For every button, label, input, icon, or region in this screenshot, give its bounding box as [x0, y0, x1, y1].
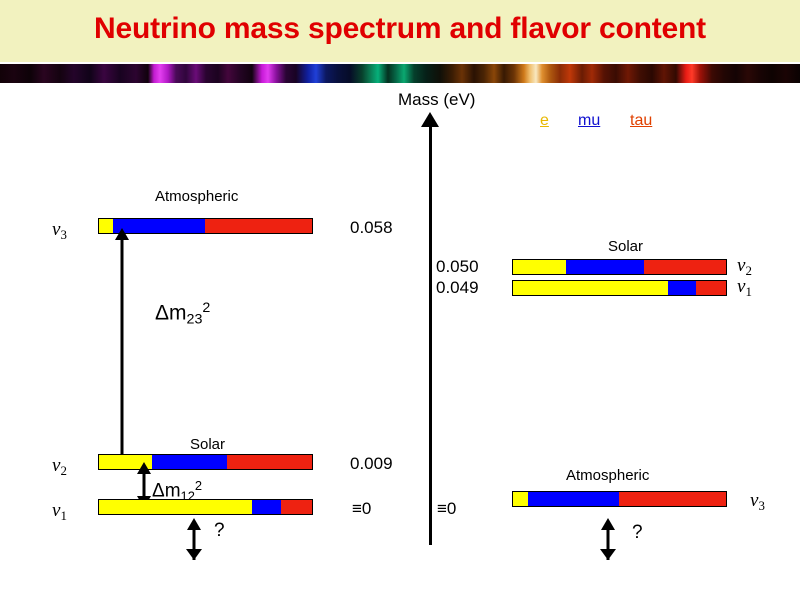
- bar-segment-e: [99, 219, 113, 233]
- right-mass-value-nu3: ≡0: [437, 499, 456, 519]
- right-unknown-marker: ?: [632, 522, 643, 544]
- arrow-shaft: [121, 238, 124, 456]
- right-flavor-bar-nu1[interactable]: [512, 280, 727, 296]
- left-mass-value-nu2: 0.009: [350, 454, 393, 474]
- legend-item-mu[interactable]: mu: [578, 112, 600, 130]
- bar-segment-mu: [566, 260, 644, 274]
- right-atmospheric-group-label: Atmospheric: [566, 467, 649, 484]
- left-flavor-bar-nu1[interactable]: [98, 499, 313, 515]
- nu-subscript: 3: [60, 227, 66, 242]
- delta-m23-arrow: [113, 228, 131, 466]
- right-mass-value-nu1: 0.049: [436, 278, 479, 298]
- left-mass-value-nu1: ≡0: [352, 499, 371, 519]
- page-title: Neutrino mass spectrum and flavor conten…: [0, 12, 800, 46]
- slide-canvas: Neutrino mass spectrum and flavor conten…: [0, 0, 800, 600]
- left-unknown-marker: ?: [214, 520, 225, 542]
- mass-axis-line: [429, 121, 432, 545]
- bar-segment-mu: [668, 281, 696, 295]
- title-banner: Neutrino mass spectrum and flavor conten…: [0, 0, 800, 62]
- delta-m-sub: 23: [187, 312, 203, 328]
- bar-segment-mu: [528, 492, 620, 506]
- delta-m23-label: Δm232: [155, 300, 210, 328]
- bar-segment-tau: [227, 455, 312, 469]
- bar-segment-tau: [696, 281, 726, 295]
- right-state-label-nu1: ν1: [737, 276, 752, 300]
- left-flavor-bar-nu2[interactable]: [98, 454, 313, 470]
- nu-subscript: 1: [60, 508, 66, 523]
- left-unknown-arrow-head-down: [186, 549, 202, 560]
- left-state-label-nu3: ν3: [52, 219, 67, 243]
- bar-segment-e: [99, 500, 252, 514]
- nu-subscript: 2: [60, 463, 66, 478]
- bar-segment-tau: [281, 500, 312, 514]
- legend-item-tau[interactable]: tau: [630, 112, 652, 130]
- left-state-label-nu1: ν1: [52, 500, 67, 524]
- left-mass-value-nu3: 0.058: [350, 218, 393, 238]
- bar-segment-e: [513, 492, 528, 506]
- right-unknown-arrow-head-down: [600, 549, 616, 560]
- nu-subscript: 1: [745, 284, 751, 299]
- bar-segment-tau: [205, 219, 312, 233]
- bar-segment-tau: [619, 492, 726, 506]
- right-solar-group-label: Solar: [608, 238, 643, 255]
- left-state-label-nu2: ν2: [52, 455, 67, 479]
- left-atmospheric-group-label: Atmospheric: [155, 188, 238, 205]
- mass-axis-label: Mass (eV): [398, 90, 475, 110]
- left-solar-group-label: Solar: [190, 436, 225, 453]
- emission-spectrum-band: [0, 64, 800, 83]
- right-flavor-bar-nu3[interactable]: [512, 491, 727, 507]
- legend-item-e[interactable]: e: [540, 112, 549, 130]
- nu-subscript: 3: [758, 498, 764, 513]
- right-state-label-nu3: ν3: [750, 490, 765, 514]
- bar-segment-mu: [152, 455, 227, 469]
- delta-m-sup: 2: [202, 300, 210, 316]
- delta-m-sup: 2: [195, 478, 202, 493]
- bar-segment-mu: [252, 500, 281, 514]
- arrow-shaft: [143, 471, 146, 499]
- delta-m-base: Δm: [155, 301, 187, 324]
- bar-segment-tau: [644, 260, 726, 274]
- bar-segment-e: [513, 281, 668, 295]
- bar-segment-e: [513, 260, 566, 274]
- right-flavor-bar-nu2[interactable]: [512, 259, 727, 275]
- right-mass-value-nu2: 0.050: [436, 257, 479, 277]
